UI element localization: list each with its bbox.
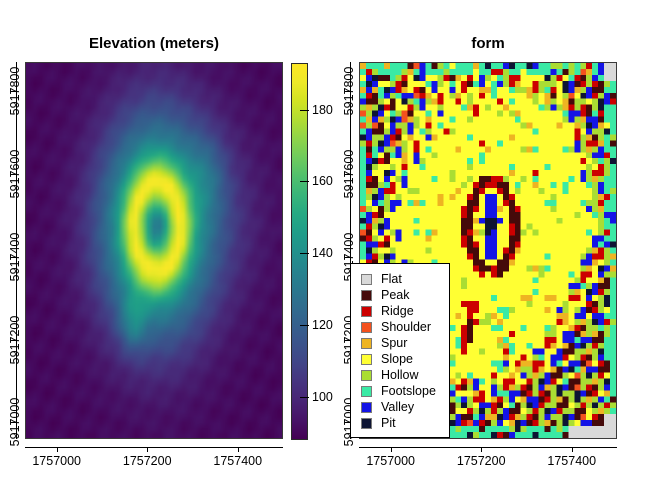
elevation-x-tick-label: 1757400 (213, 454, 262, 468)
colorbar-tick-mark (300, 325, 309, 326)
legend-swatch (361, 418, 372, 429)
legend-item-label: Peak (381, 288, 410, 303)
elevation-x-tick-mark (238, 447, 239, 452)
elevation-x-tick-label: 1757000 (32, 454, 81, 468)
form-y-tick-label: 5917800 (342, 67, 356, 116)
elevation-x-tick-mark (147, 447, 148, 452)
legend-swatch (361, 306, 372, 317)
colorbar-tick-label: 100 (312, 390, 333, 404)
colorbar-tick-label: 120 (312, 318, 333, 332)
legend-item-label: Shoulder (381, 320, 431, 335)
form-x-tick-label: 1757000 (366, 454, 415, 468)
legend-item[interactable]: Valley (361, 400, 414, 415)
legend-swatch (361, 290, 372, 301)
legend-swatch (361, 386, 372, 397)
elevation-panel-title: Elevation (meters) (25, 35, 283, 52)
colorbar-tick-mark (300, 253, 309, 254)
form-y-tick-label: 5917600 (342, 150, 356, 199)
figure-canvas: Elevation (meters) 175700017572001757400… (0, 0, 672, 480)
legend-item-label: Hollow (381, 368, 419, 383)
colorbar-gradient (292, 64, 307, 439)
elevation-raster-image (26, 63, 282, 438)
legend-item-label: Valley (381, 400, 414, 415)
form-x-tick-mark (391, 447, 392, 452)
elevation-y-tick-label: 5917800 (8, 67, 22, 116)
legend-item[interactable]: Ridge (361, 304, 414, 319)
legend-item[interactable]: Peak (361, 288, 410, 303)
form-x-axis-line (359, 447, 617, 448)
legend-swatch (361, 354, 372, 365)
legend-item-label: Footslope (381, 384, 436, 399)
legend-item[interactable]: Shoulder (361, 320, 431, 335)
legend-item[interactable]: Hollow (361, 368, 419, 383)
legend-swatch (361, 322, 372, 333)
legend-swatch (361, 370, 372, 381)
colorbar-tick-mark (300, 181, 309, 182)
legend-item[interactable]: Slope (361, 352, 413, 367)
legend-item[interactable]: Footslope (361, 384, 436, 399)
legend-item[interactable]: Flat (361, 272, 402, 287)
legend-swatch (361, 274, 372, 285)
colorbar-tick-mark (300, 110, 309, 111)
colorbar-tick-label: 180 (312, 103, 333, 117)
colorbar-tick-label: 140 (312, 246, 333, 260)
elevation-x-tick-label: 1757200 (123, 454, 172, 468)
elevation-y-tick-label: 5917600 (8, 150, 22, 199)
form-x-tick-label: 1757400 (547, 454, 596, 468)
legend-item[interactable]: Spur (361, 336, 407, 351)
form-x-tick-mark (572, 447, 573, 452)
legend-item[interactable]: Pit (361, 416, 396, 431)
legend-item-label: Slope (381, 352, 413, 367)
elevation-y-tick-label: 5917200 (8, 315, 22, 364)
form-x-tick-label: 1757200 (457, 454, 506, 468)
form-x-tick-mark (481, 447, 482, 452)
elevation-raster-plot[interactable] (25, 62, 283, 439)
colorbar-tick-label: 160 (312, 174, 333, 188)
elevation-colorbar[interactable] (291, 63, 308, 440)
legend-item-label: Spur (381, 336, 407, 351)
elevation-x-tick-mark (57, 447, 58, 452)
legend-swatch (361, 338, 372, 349)
legend-swatch (361, 402, 372, 413)
form-legend[interactable]: FlatPeakRidgeShoulderSpurSlopeHollowFoot… (350, 263, 450, 438)
legend-item-label: Flat (381, 272, 402, 287)
elevation-y-tick-label: 5917000 (8, 398, 22, 447)
legend-item-label: Pit (381, 416, 396, 431)
elevation-x-axis-line (25, 447, 283, 448)
legend-item-label: Ridge (381, 304, 414, 319)
form-panel-title: form (359, 35, 617, 52)
elevation-y-tick-label: 5917400 (8, 232, 22, 281)
colorbar-tick-mark (300, 397, 309, 398)
